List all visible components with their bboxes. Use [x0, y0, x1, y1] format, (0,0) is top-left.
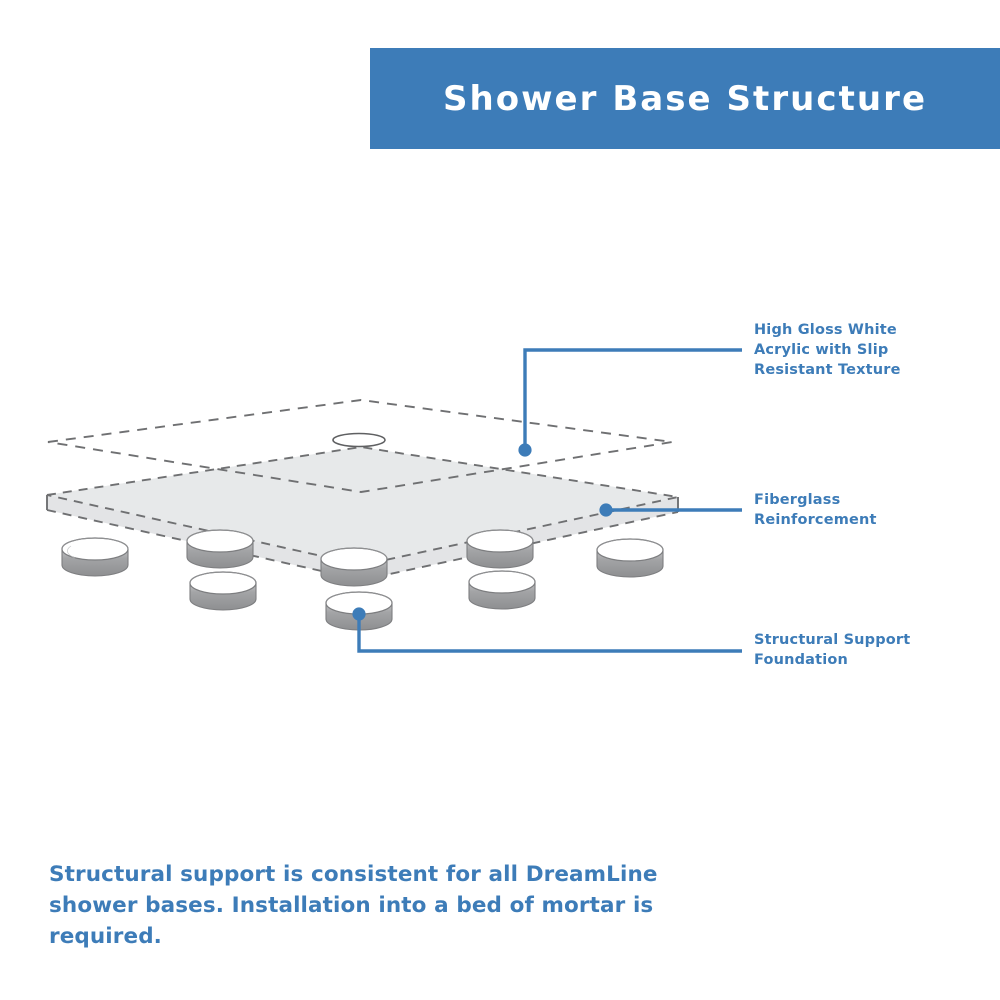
page-root: Shower Base Structure [0, 0, 1000, 1000]
callout-label-fiberglass: Fiberglass Reinforcement [754, 491, 877, 531]
callout-3-leader [359, 614, 742, 651]
drain-hole-ellipse [333, 434, 385, 447]
callout-1-leader [525, 350, 742, 450]
support-ring [62, 538, 128, 576]
callout-label-structural-support: Structural Support Foundation [754, 631, 910, 671]
support-ring [469, 571, 535, 609]
support-ring [597, 539, 663, 577]
support-ring [190, 572, 256, 610]
callout-3-dot [352, 607, 365, 620]
footer-note: Structural support is consistent for all… [49, 859, 689, 953]
slab-top-face [47, 447, 678, 565]
support-ring [321, 548, 387, 586]
callout-1-dot [518, 443, 531, 456]
callout-2-dot [599, 503, 612, 516]
callout-label-acrylic: High Gloss White Acrylic with Slip Resis… [754, 321, 901, 381]
support-ring [467, 530, 533, 568]
support-ring [187, 530, 253, 568]
